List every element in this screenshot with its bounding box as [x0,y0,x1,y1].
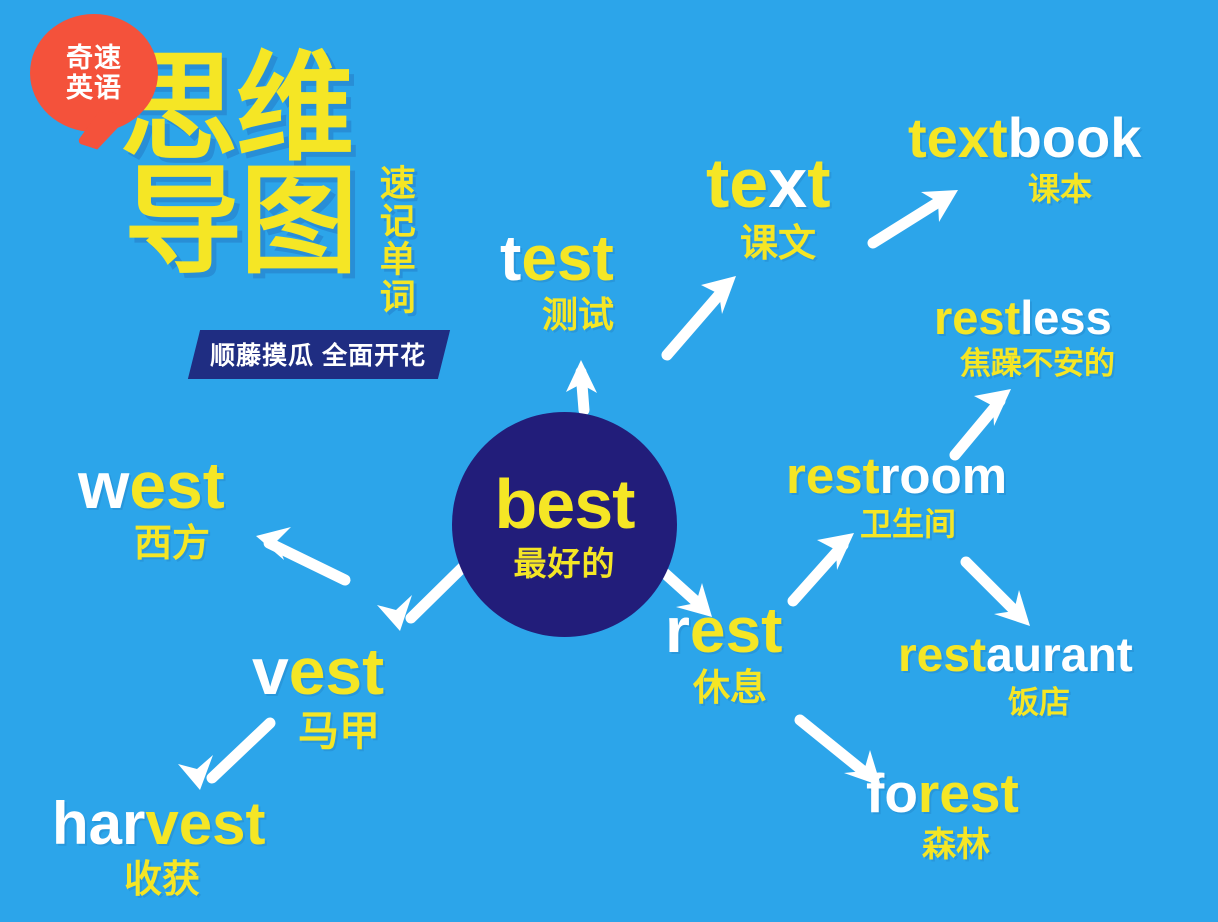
slogan-text: 顺藤摸瓜 全面开花 [210,336,426,372]
page-title-line1: 思维 [120,52,420,165]
node-restroom-root: room [880,447,1008,504]
node-restless-meaning: 焦躁不安的 [960,348,1115,379]
node-restless-root: less [1020,291,1111,344]
node-rest-root: est [690,594,783,666]
arrow-rest-to-restroom [793,545,843,601]
center-node-meaning: 最好的 [514,547,616,580]
node-harvest-prefix: har [52,790,145,857]
center-node-word: best [495,469,635,539]
node-restless[interactable]: restless 焦躁不安的 [934,294,1115,379]
arrowhead-vest-to-harvest [178,755,213,790]
node-restless-word: restless [934,294,1115,341]
node-text-prefix: te [706,144,768,222]
node-vest-root: est [289,634,384,708]
node-test-word: test [500,226,614,290]
node-forest-root: rest [918,762,1019,824]
node-restaurant[interactable]: restaurant 饭店 [898,632,1133,718]
node-forest-word: forest [866,766,1019,821]
mind-map-canvas: 奇速 英语 思维 导图 速记单词 顺藤摸瓜 全面开花 best 最好的 test… [0,0,1218,922]
node-west[interactable]: west 西方 [78,452,225,563]
arrowhead-restroom-to-restaurant [994,590,1030,626]
arrowhead-vest-to-west [256,527,291,560]
node-forest-prefix: fo [866,762,918,824]
node-text-suffix: t [807,144,830,222]
brand-badge-line2: 英语 [66,73,122,103]
node-textbook-meaning: 课本 [1028,173,1141,205]
node-west-prefix: w [78,448,129,522]
brand-badge: 奇速 英语 [30,14,158,132]
node-harvest-meaning: 收获 [124,861,265,899]
node-vest-meaning: 马甲 [298,711,384,752]
node-west-meaning: 西方 [134,525,225,563]
node-textbook-prefix: text [908,106,1008,169]
node-restaurant-word: restaurant [898,632,1133,680]
node-text-word: text [706,148,831,218]
slogan-banner: 顺藤摸瓜 全面开花 [188,330,450,379]
node-harvest-root: vest [145,790,265,857]
node-forest-meaning: 森林 [922,828,1019,862]
node-restless-prefix: rest [934,291,1020,344]
vertical-subtitle: 速记单词 [376,164,413,316]
node-rest-prefix: r [665,594,690,666]
arrowhead-best-to-test [566,360,597,393]
node-test-root: est [521,222,614,294]
node-textbook-word: textbook [908,110,1141,166]
node-test-meaning: 测试 [542,297,614,333]
center-node-best[interactable]: best 最好的 [452,412,677,637]
node-west-word: west [78,452,225,518]
node-restaurant-prefix: rest [898,629,986,682]
brand-badge-line1: 奇速 [66,43,122,73]
node-vest-word: vest [252,638,384,704]
node-textbook[interactable]: textbook 课本 [908,110,1141,205]
node-vest[interactable]: vest 马甲 [252,638,384,752]
arrow-restroom-to-restaurant [966,562,1017,613]
node-harvest[interactable]: harvest 收获 [52,794,265,899]
node-text[interactable]: text 课文 [706,148,831,263]
node-vest-prefix: v [252,634,289,708]
node-test[interactable]: test 测试 [500,226,614,333]
arrowhead-restroom-to-restless [974,389,1011,426]
arrowhead-test-to-text [701,276,736,314]
node-textbook-root: book [1008,106,1142,169]
node-restroom-word: restroom [786,450,1007,501]
node-restroom-prefix: rest [786,447,880,504]
node-restroom[interactable]: restroom 卫生间 [786,450,1007,540]
node-test-prefix: t [500,222,521,294]
node-rest[interactable]: rest 休息 [665,598,782,706]
node-text-meaning: 课文 [740,225,831,263]
node-restaurant-meaning: 饭店 [1008,687,1133,718]
arrow-rest-to-forest [800,720,868,775]
node-forest[interactable]: forest 森林 [866,766,1019,862]
node-text-root: x [768,144,807,222]
node-harvest-word: harvest [52,794,265,854]
node-rest-meaning: 休息 [693,669,782,706]
node-west-root: est [129,448,224,522]
arrowhead-best-to-vest [377,595,412,631]
node-restroom-meaning: 卫生间 [860,508,1007,540]
node-restaurant-root: aurant [986,629,1133,682]
arrow-test-to-text [667,288,725,355]
brand-logo-block: 奇速 英语 思维 导图 速记单词 顺藤摸瓜 全面开花 [8,4,478,394]
node-rest-word: rest [665,598,782,662]
arrow-vest-to-west [269,543,345,580]
arrow-best-to-test [581,372,584,410]
